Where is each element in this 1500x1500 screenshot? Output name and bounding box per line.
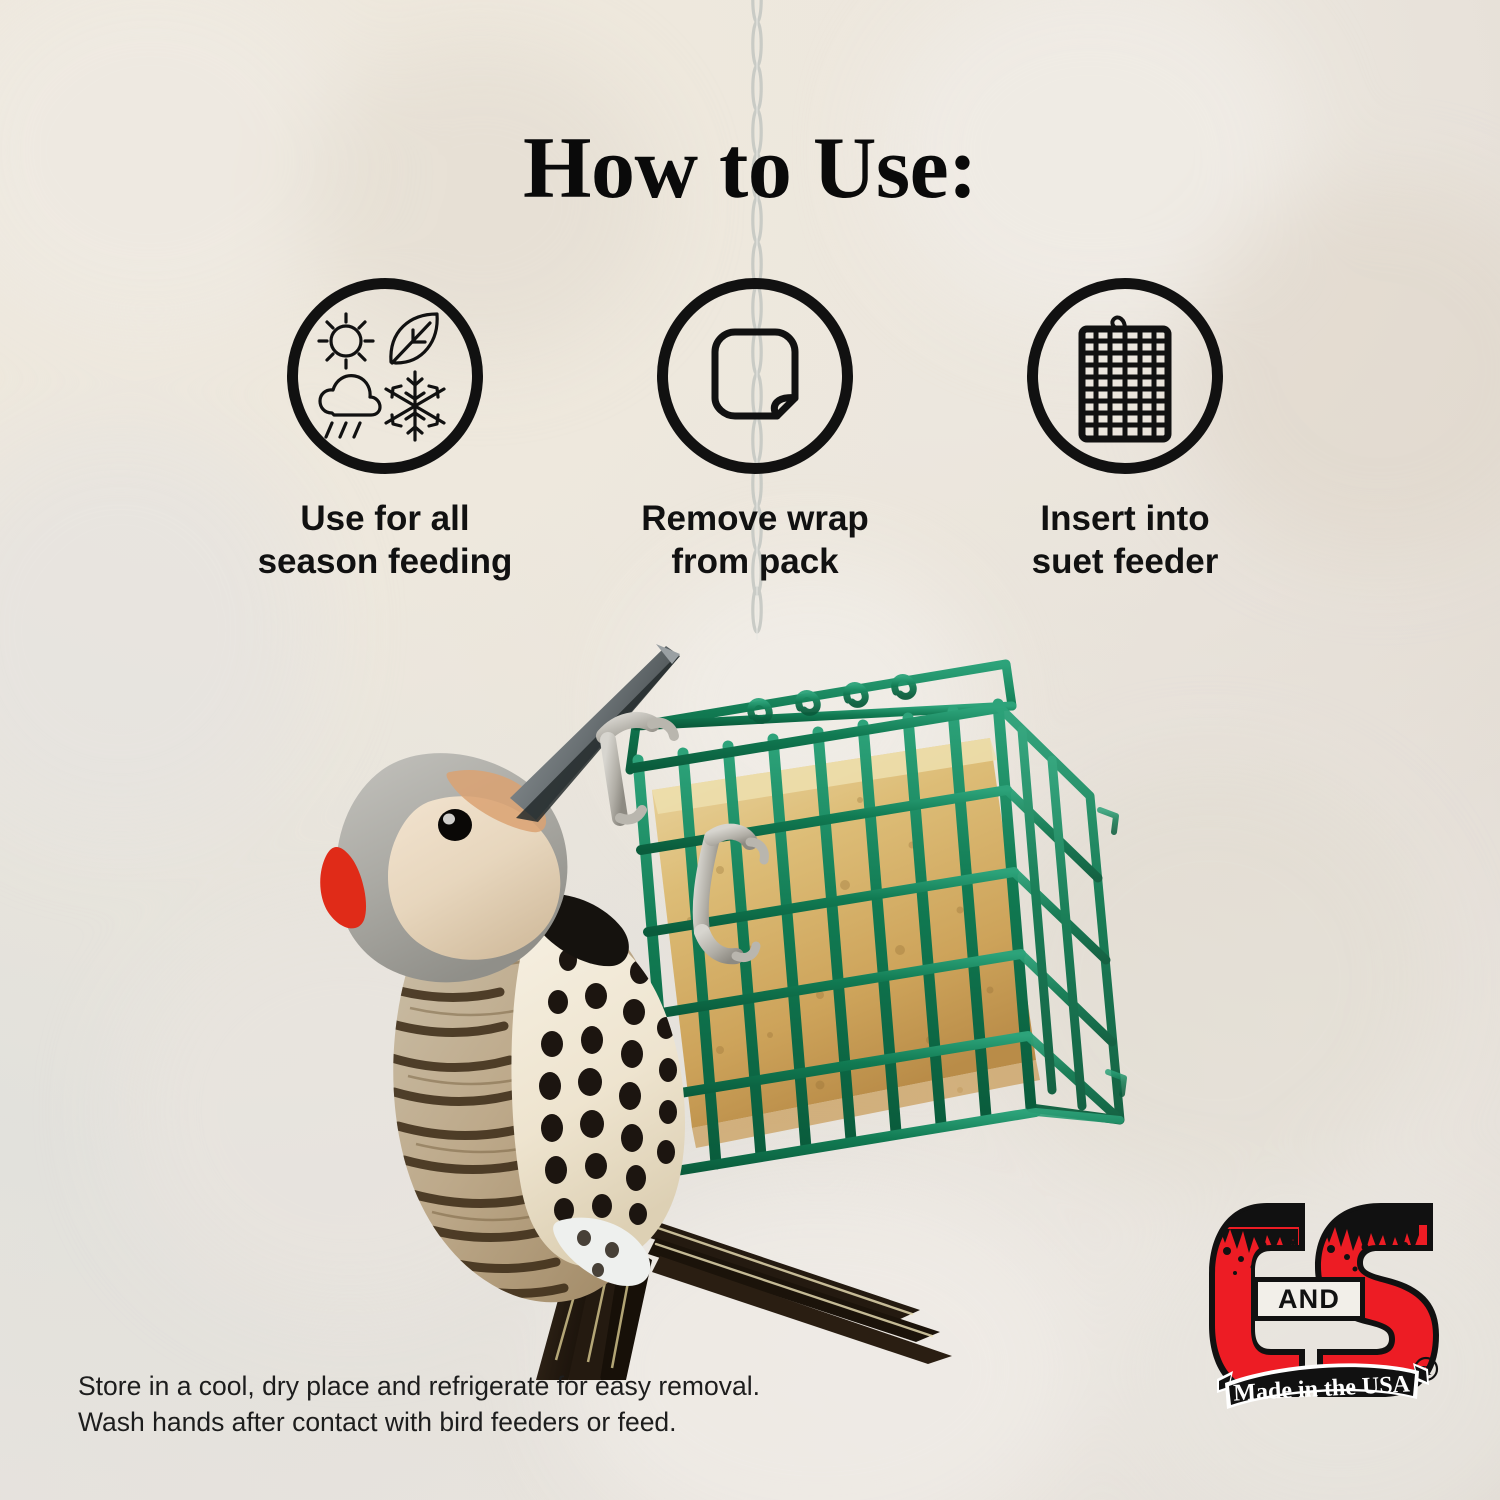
step-remove-wrap: Remove wrap from pack bbox=[570, 278, 940, 608]
step-label: Use for all season feeding bbox=[258, 498, 513, 583]
step-insert-suet-feeder: Insert into suet feeder bbox=[940, 278, 1310, 608]
step-icon-circle bbox=[1027, 278, 1223, 474]
page-title: How to Use: bbox=[0, 118, 1500, 219]
logo-and-text: AND bbox=[1278, 1284, 1340, 1314]
how-to-use-steps: Use for all season feeding Remove wrap f… bbox=[200, 278, 1310, 608]
bird-eye bbox=[438, 809, 472, 841]
logo-and-band: AND bbox=[1253, 1277, 1365, 1321]
poster-canvas: How to Use: bbox=[0, 0, 1500, 1500]
storage-instructions: Store in a cool, dry place and refrigera… bbox=[78, 1368, 760, 1440]
product-photo-bird-on-suet-feeder bbox=[300, 620, 1180, 1380]
tail-streamers bbox=[644, 1220, 952, 1364]
step-icon-circle bbox=[287, 278, 483, 474]
step-icon-circle bbox=[657, 278, 853, 474]
step-all-season-feeding: Use for all season feeding bbox=[200, 278, 570, 608]
brand-logo-c-and-s: AND R Made in the USA bbox=[1205, 1193, 1440, 1418]
step-label: Remove wrap from pack bbox=[641, 498, 869, 583]
suet-cage-feeder-icon bbox=[1057, 303, 1193, 449]
peeling-wrap-icon bbox=[691, 312, 819, 440]
four-seasons-icon bbox=[310, 301, 460, 451]
step-label: Insert into suet feeder bbox=[1032, 498, 1219, 583]
